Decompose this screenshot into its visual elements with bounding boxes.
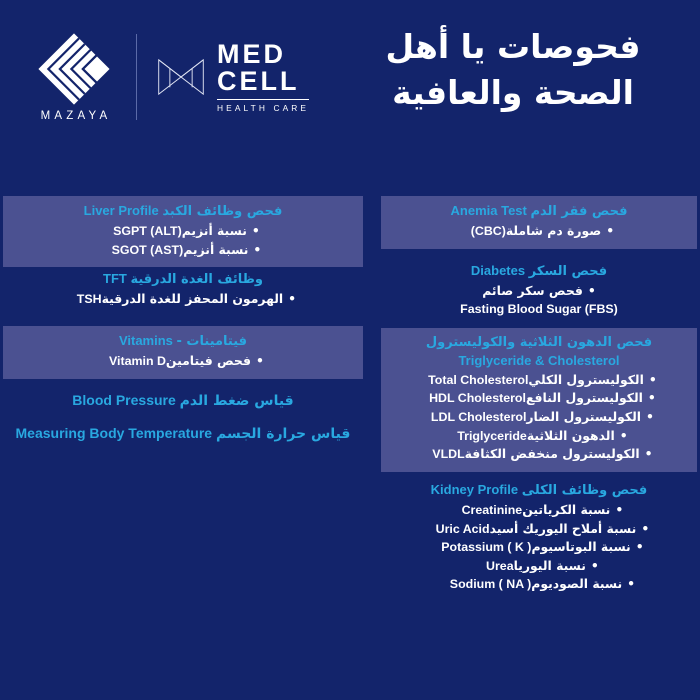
- card-items-tft: الهرمون المحفز للغدة الدرقية TSH: [17, 290, 349, 309]
- card-title-en: Anemia Test: [451, 203, 531, 218]
- card-items-anemia-test: صورة دم شاملة (CBC): [395, 222, 683, 241]
- card-title-tft: وظائف الغدة الدرقية TFT: [17, 270, 349, 289]
- service-row-body-temperature[interactable]: قياس حرارة الجسم Measuring Body Temperat…: [3, 425, 363, 442]
- item-label-en: Fasting Blood Sugar (FBS): [460, 302, 618, 316]
- card-title-vitamins: فيتامينات - Vitamins: [17, 332, 349, 351]
- item-label-en: Uric Acid: [429, 522, 490, 536]
- card-title-triglyceride-cholesterol: فحص الدهون الثلاثية والكوليسترول Triglyc…: [395, 334, 683, 370]
- page-title-line1: فحوصات يا أهل: [348, 24, 678, 70]
- item-label-ar: نسبة أملاح اليوريك أسيد: [490, 521, 637, 536]
- card-items-kidney-profile: نسبة الكرياتين Creatinineنسبة أملاح اليو…: [395, 501, 683, 594]
- card-title-en: TFT: [103, 271, 130, 286]
- item-label-ar: الكوليسترول الضار: [526, 409, 641, 424]
- list-item: نسبة الكرياتين Creatinine: [395, 501, 683, 520]
- card-title-ar: وظائف الغدة الدرقية: [130, 272, 263, 287]
- mazaya-wordmark: MAZAYA: [37, 110, 112, 122]
- mazaya-diamond-icon: [37, 32, 111, 106]
- item-label-ar: نسبة الصوديوم: [531, 576, 622, 591]
- item-label-en: LDL Cholesterol: [424, 410, 526, 424]
- card-title-ar: فحص وظائف الكلى: [522, 483, 648, 498]
- list-item: الكوليسترول الكلي Total Cholesterol: [395, 371, 683, 390]
- card-title-en: Triglyceride & Cholesterol: [395, 352, 683, 370]
- item-label-en: Sodium ( NA ): [443, 577, 531, 591]
- mazaya-logo: MAZAYA: [28, 32, 120, 122]
- item-label-en: VLDL: [425, 447, 464, 461]
- medcell-logo: MED CELL HEALTH CARE: [155, 41, 309, 113]
- card-items-diabetes: فحص سكر صائمFasting Blood Sugar (FBS): [395, 282, 683, 318]
- item-label-ar: نسبة اليوريا: [514, 558, 586, 573]
- test-card-tft[interactable]: وظائف الغدة الدرقية TFTالهرمون المحفز لل…: [3, 264, 363, 317]
- medcell-line2: CELL: [217, 68, 309, 94]
- service-label-ar: قياس حرارة الجسم: [216, 426, 351, 442]
- test-card-liver-profile[interactable]: فحص وظائف الكبد Liver Profileنسبة أنزيم …: [3, 196, 363, 267]
- item-label-ar: فحص فيتامين: [166, 353, 251, 368]
- service-row-blood-pressure[interactable]: قياس ضغط الدم Blood Pressure: [3, 392, 363, 409]
- item-label-ar: نسبة أنزيم: [182, 223, 247, 238]
- list-item: صورة دم شاملة (CBC): [395, 222, 683, 241]
- card-items-liver-profile: نسبة أنزيم SGPT (ALT)نسبة أنزيم SGOT (AS…: [17, 222, 349, 259]
- list-item: نسبة أملاح اليوريك أسيد Uric Acid: [395, 520, 683, 539]
- list-item: نسبة أنزيم SGOT (AST): [17, 241, 349, 260]
- item-label-ar: الدهون الثلاثية: [527, 428, 615, 443]
- header: MAZAYA MED CELL HEALTH CARE: [0, 0, 700, 160]
- medcell-m-icon: [155, 53, 207, 101]
- medcell-rule: [217, 99, 309, 100]
- logo-divider: [136, 34, 137, 120]
- list-item: نسبة اليوريا Urea: [395, 557, 683, 576]
- service-label-en: Blood Pressure: [72, 392, 179, 408]
- list-item: الكوليسترول الضار LDL Cholesterol: [395, 408, 683, 427]
- item-label-ar: الكوليسترول منخفض الكثافة: [465, 446, 640, 461]
- medcell-line1: MED: [217, 41, 309, 67]
- item-label-en: TSH: [70, 292, 102, 306]
- poster-root: MAZAYA MED CELL HEALTH CARE: [0, 0, 700, 700]
- card-title-ar: فحص السكر: [529, 264, 607, 279]
- item-label-en: Potassium ( K ): [434, 540, 531, 554]
- item-label-en: SGOT (AST): [105, 243, 183, 257]
- list-item: نسبة الصوديوم Sodium ( NA ): [395, 575, 683, 594]
- list-item: نسبة البوتاسيوم Potassium ( K ): [395, 538, 683, 557]
- test-card-kidney-profile[interactable]: فحص وظائف الكلى Kidney Profileنسبة الكري…: [381, 475, 697, 602]
- item-label-ar: الهرمون المحفز للغدة الدرقية: [102, 291, 284, 306]
- card-title-ar: فحص فقر الدم: [530, 204, 627, 219]
- list-item: فحص فيتامين Vitamin D: [17, 352, 349, 371]
- test-card-triglyceride-cholesterol[interactable]: فحص الدهون الثلاثية والكوليسترول Triglyc…: [381, 328, 697, 472]
- card-title-kidney-profile: فحص وظائف الكلى Kidney Profile: [395, 481, 683, 500]
- card-title-en: Vitamins: [119, 333, 177, 348]
- card-title-en: Liver Profile: [84, 203, 163, 218]
- card-items-vitamins: فحص فيتامين Vitamin D: [17, 352, 349, 371]
- item-label-en: Vitamin D: [102, 354, 166, 368]
- card-items-triglyceride-cholesterol: الكوليسترول الكلي Total Cholesterolالكول…: [395, 371, 683, 464]
- item-label-ar: فحص سكر صائم: [482, 283, 583, 298]
- list-item: Fasting Blood Sugar (FBS): [395, 300, 683, 319]
- card-title-ar: فحص الدهون الثلاثية والكوليسترول: [426, 335, 652, 350]
- service-label-ar: قياس ضغط الدم: [180, 393, 294, 409]
- list-item: الكوليسترول النافع HDL Cholesterol: [395, 389, 683, 408]
- item-label-ar: الكوليسترول النافع: [526, 390, 643, 405]
- medcell-wordmark: MED CELL HEALTH CARE: [217, 41, 309, 113]
- list-item: الكوليسترول منخفض الكثافة VLDL: [395, 445, 683, 464]
- item-label-en: Total Cholesterol: [421, 373, 528, 387]
- list-item: الدهون الثلاثية Triglyceride: [395, 427, 683, 446]
- test-card-diabetes[interactable]: فحص السكر Diabetesفحص سكر صائمFasting Bl…: [381, 256, 697, 326]
- item-label-en: SGPT (ALT): [106, 224, 181, 238]
- item-label-ar: نسبة البوتاسيوم: [531, 539, 630, 554]
- test-card-anemia-test[interactable]: فحص فقر الدم Anemia Testصورة دم شاملة (C…: [381, 196, 697, 249]
- logo-group: MAZAYA MED CELL HEALTH CARE: [28, 22, 328, 132]
- card-title-liver-profile: فحص وظائف الكبد Liver Profile: [17, 202, 349, 221]
- item-label-ar: نسبة أنزيم: [183, 242, 248, 257]
- page-title: فحوصات يا أهل الصحة والعافية: [348, 24, 678, 115]
- item-label-en: Creatinine: [455, 503, 522, 517]
- page-title-line2: الصحة والعافية: [348, 70, 678, 116]
- item-label-ar: الكوليسترول الكلي: [528, 372, 643, 387]
- service-label-en: Measuring Body Temperature: [16, 425, 216, 441]
- card-title-anemia-test: فحص فقر الدم Anemia Test: [395, 202, 683, 221]
- card-title-diabetes: فحص السكر Diabetes: [395, 262, 683, 281]
- item-label-ar: نسبة الكرياتين: [522, 502, 610, 517]
- item-label-ar: صورة دم شاملة: [506, 223, 601, 238]
- test-card-vitamins[interactable]: فيتامينات - Vitaminsفحص فيتامين Vitamin …: [3, 326, 363, 379]
- list-item: الهرمون المحفز للغدة الدرقية TSH: [17, 290, 349, 309]
- list-item: فحص سكر صائم: [395, 282, 683, 300]
- card-title-ar: فحص وظائف الكبد: [162, 204, 282, 219]
- item-label-en: Triglyceride: [450, 429, 526, 443]
- card-title-ar: فيتامينات -: [177, 334, 248, 349]
- card-title-en: Kidney Profile: [431, 482, 522, 497]
- item-label-en: HDL Cholesterol: [422, 391, 526, 405]
- medcell-tagline: HEALTH CARE: [217, 103, 309, 113]
- item-label-en: (CBC): [464, 224, 506, 238]
- item-label-en: Urea: [479, 559, 513, 573]
- list-item: نسبة أنزيم SGPT (ALT): [17, 222, 349, 241]
- card-title-en: Diabetes: [471, 263, 529, 278]
